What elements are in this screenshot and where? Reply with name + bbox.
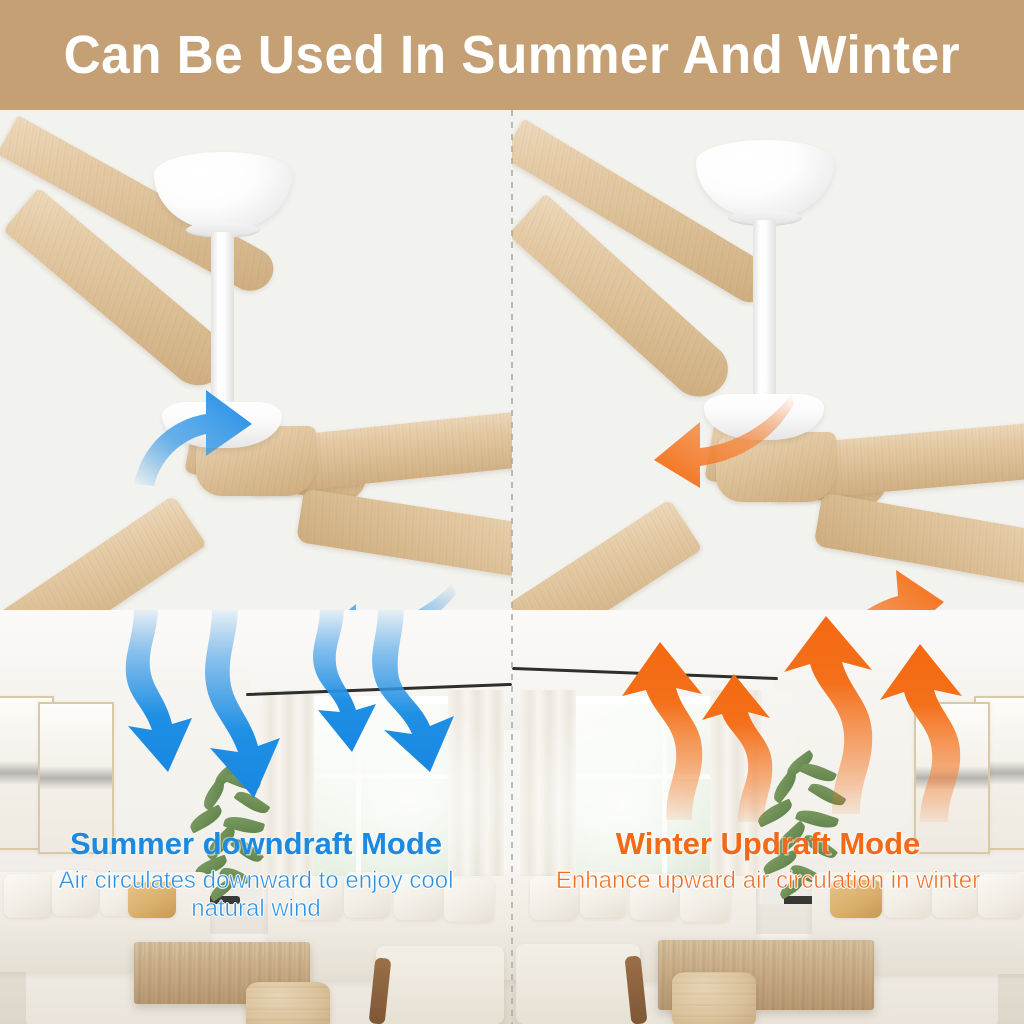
- room-scene-summer: [0, 610, 512, 1024]
- throw-pillow: [580, 872, 626, 918]
- throw-pillow: [932, 872, 978, 918]
- wood-blade: [296, 488, 512, 585]
- accent-chair: [376, 946, 504, 1024]
- throw-pillow: [394, 874, 442, 920]
- throw-pillow-gold: [128, 882, 176, 918]
- panel-divider: [511, 110, 513, 1024]
- fan-illustration-summer: [0, 110, 512, 610]
- downrod-icon: [753, 220, 776, 400]
- throw-pillow: [344, 872, 390, 918]
- pouf-ottoman: [246, 982, 330, 1024]
- fan-illustration-winter: [512, 110, 1024, 610]
- room-scene-winter: [512, 610, 1024, 1024]
- throw-pillow: [680, 878, 730, 922]
- throw-pillow-gold: [830, 880, 882, 918]
- updraft-arrow: [876, 642, 1006, 822]
- pouf-ottoman: [672, 972, 756, 1024]
- panel-summer-downdraft: Summer downdraft Mode Air circulates dow…: [0, 110, 512, 1024]
- airflow-arrow-winter: [820, 558, 960, 610]
- ceiling-canopy-icon: [154, 152, 292, 230]
- downdraft-arrow: [364, 610, 494, 776]
- throw-pillow: [4, 874, 52, 918]
- wall-art: [38, 702, 114, 854]
- header-banner: Can Be Used In Summer And Winter: [0, 0, 1024, 110]
- panel-winter-updraft: Winter Updraft Mode Enhance upward air c…: [512, 110, 1024, 1024]
- product-infographic: Can Be Used In Summer And Winter: [0, 0, 1024, 1024]
- throw-pillow: [530, 876, 578, 920]
- blade-lift-arrow-winter: [644, 388, 794, 498]
- throw-pillow: [884, 872, 930, 918]
- throw-pillow: [978, 874, 1024, 918]
- airflow-arrow-summer: [306, 580, 456, 610]
- blade-lift-arrow-summer: [128, 372, 268, 492]
- throw-pillow: [630, 874, 678, 920]
- throw-pillow: [444, 878, 494, 922]
- throw-pillow: [52, 870, 98, 916]
- page-title: Can Be Used In Summer And Winter: [64, 24, 960, 86]
- accent-chair: [516, 944, 640, 1024]
- wood-blade: [0, 495, 207, 610]
- ceiling-canopy-icon: [696, 140, 834, 218]
- throw-pillow: [294, 876, 342, 920]
- wood-blade: [512, 499, 702, 610]
